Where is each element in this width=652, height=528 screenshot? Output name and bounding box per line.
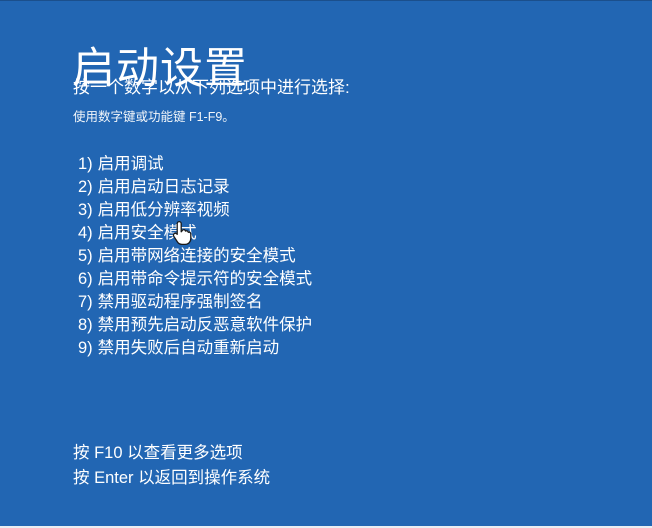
list-item[interactable]: 7)禁用驱动程序强制签名	[78, 291, 508, 314]
option-number: 6)	[78, 268, 93, 291]
option-number: 2)	[78, 176, 93, 199]
option-label: 禁用失败后自动重新启动	[98, 337, 280, 360]
list-item[interactable]: 2)启用启动日志记录	[78, 176, 508, 199]
list-item[interactable]: 5)启用带网络连接的安全模式	[78, 245, 508, 268]
option-label: 启用安全模式	[98, 222, 197, 245]
list-item[interactable]: 1)启用调试	[78, 153, 508, 176]
key-hint-text: 使用数字键或功能键 F1-F9。	[73, 109, 235, 125]
option-label: 启用调试	[98, 153, 164, 176]
list-item[interactable]: 4)启用安全模式	[78, 222, 508, 245]
footer-instructions: 按 F10 以查看更多选项 按 Enter 以返回到操作系统	[73, 441, 533, 491]
list-item[interactable]: 6)启用带命令提示符的安全模式	[78, 268, 508, 291]
option-number: 3)	[78, 199, 93, 222]
option-number: 5)	[78, 245, 93, 268]
option-label: 禁用驱动程序强制签名	[98, 291, 263, 314]
option-number: 4)	[78, 222, 93, 245]
more-options-hint: 按 F10 以查看更多选项	[73, 441, 533, 466]
startup-settings-screen: 启动设置 按一个数字以从下列选项中进行选择: 使用数字键或功能键 F1-F9。 …	[0, 0, 652, 528]
option-label: 禁用预先启动反恶意软件保护	[98, 314, 313, 337]
option-number: 8)	[78, 314, 93, 337]
option-number: 7)	[78, 291, 93, 314]
return-to-os-hint: 按 Enter 以返回到操作系统	[73, 466, 533, 491]
option-label: 启用低分辨率视频	[98, 199, 230, 222]
option-number: 9)	[78, 337, 93, 360]
list-item[interactable]: 8)禁用预先启动反恶意软件保护	[78, 314, 508, 337]
list-item[interactable]: 9)禁用失败后自动重新启动	[78, 337, 508, 360]
option-number: 1)	[78, 153, 93, 176]
instruction-text: 按一个数字以从下列选项中进行选择:	[73, 77, 350, 99]
option-label: 启用带命令提示符的安全模式	[98, 268, 313, 291]
startup-options-list: 1)启用调试 2)启用启动日志记录 3)启用低分辨率视频 4)启用安全模式 5)…	[78, 153, 508, 360]
option-label: 启用启动日志记录	[98, 176, 230, 199]
list-item[interactable]: 3)启用低分辨率视频	[78, 199, 508, 222]
option-label: 启用带网络连接的安全模式	[98, 245, 296, 268]
